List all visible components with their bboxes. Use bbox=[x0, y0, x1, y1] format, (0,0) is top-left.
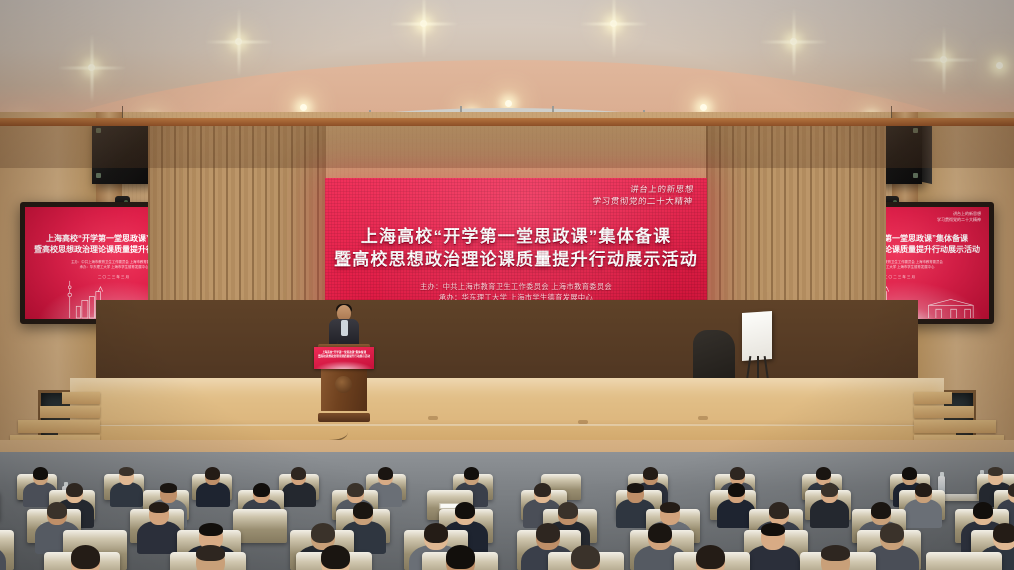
ceiling-spotlight bbox=[790, 38, 797, 45]
audience-member-hair bbox=[321, 545, 350, 569]
ceiling-spotlight bbox=[505, 100, 512, 107]
audience-member-hair bbox=[33, 467, 48, 480]
audience-member-hair bbox=[71, 545, 100, 569]
lectern-banner: 上海高校“开学第一堂思政课”集体备课 暨高校思想政治理论课质量提升行动展示活动 bbox=[314, 347, 374, 369]
audience-member-body bbox=[810, 499, 848, 528]
audience-member-body bbox=[904, 499, 942, 528]
flipchart-easel bbox=[742, 312, 774, 386]
auditorium-photo: 讲台上的新思想 学习贯彻党的二十大精神 上海高校“开学第一堂思政课”集体备课 暨… bbox=[0, 0, 1014, 570]
audience-member-hair bbox=[643, 467, 658, 480]
audience-member-hair bbox=[160, 483, 177, 493]
audience-member-body bbox=[282, 482, 316, 508]
audience-member-hair bbox=[571, 545, 600, 569]
ceiling-spotlight bbox=[235, 38, 242, 45]
audience-member-hair bbox=[291, 467, 306, 480]
audience-member-hair bbox=[973, 502, 993, 519]
audience-member-hair bbox=[536, 523, 560, 543]
audience-member-hair bbox=[769, 502, 789, 519]
audience-member-hair bbox=[66, 483, 83, 497]
audience-member-hair bbox=[816, 467, 831, 480]
audience-member-hair bbox=[464, 467, 479, 480]
audience-member-hair bbox=[761, 523, 785, 536]
flipchart-board bbox=[742, 311, 772, 361]
audience-member-hair bbox=[627, 483, 644, 493]
audience-member-hair bbox=[915, 483, 932, 497]
audience-member-hair bbox=[253, 483, 270, 497]
audience-member-hair bbox=[424, 523, 448, 543]
audience-member-hair bbox=[728, 483, 745, 497]
audience-member-hair bbox=[660, 502, 680, 513]
audience-member-body bbox=[110, 482, 144, 508]
audience-member-body bbox=[137, 521, 182, 554]
lectern: 上海高校“开学第一堂思政课”集体备课 暨高校思想政治理论课质量提升行动展示活动 bbox=[318, 344, 370, 422]
audience-member-hair bbox=[902, 467, 917, 480]
audience-member-hair bbox=[993, 523, 1014, 543]
audience-member-hair bbox=[47, 502, 67, 519]
auditorium-seat bbox=[926, 552, 1002, 570]
audience-member-hair bbox=[558, 502, 578, 519]
ceiling-spotlight bbox=[996, 62, 1003, 69]
audience-member-hair bbox=[821, 545, 850, 561]
ceiling-spotlight bbox=[610, 20, 617, 27]
audience-member-hair bbox=[648, 523, 672, 543]
audience-member-hair bbox=[1008, 483, 1014, 497]
audience-member-hair bbox=[730, 467, 745, 480]
audience-member-hair bbox=[871, 502, 891, 519]
audience-member-hair bbox=[119, 467, 134, 476]
audience-member-hair bbox=[347, 483, 364, 497]
audience-member-hair bbox=[311, 523, 335, 543]
wall-trim-band bbox=[0, 118, 1014, 126]
audience-member-body bbox=[196, 482, 230, 508]
audience-member-hair bbox=[205, 467, 220, 480]
side-right-calligraphy-2: 学习贯彻党的二十大精神 bbox=[937, 217, 981, 223]
audience-member-hair bbox=[988, 467, 1003, 476]
audience-member-hair bbox=[353, 502, 373, 519]
audience-member-hair bbox=[199, 523, 223, 536]
lectern-emblem-icon bbox=[335, 376, 352, 393]
audience-member-hair bbox=[196, 545, 225, 561]
auditorium-seat bbox=[233, 509, 287, 543]
ceiling-spotlight bbox=[88, 64, 95, 71]
lectern-banner-line-2: 暨高校思想政治理论课质量提升行动展示活动 bbox=[314, 355, 374, 359]
ceiling-spotlight bbox=[420, 20, 427, 27]
audience-member-hair bbox=[534, 483, 551, 497]
audience-member-hair bbox=[880, 523, 904, 543]
ceiling-spotlight bbox=[940, 56, 947, 63]
audience-member-hair bbox=[821, 483, 838, 497]
audience-member-hair bbox=[455, 502, 475, 519]
audience-member-hair bbox=[378, 467, 393, 480]
audience-member-hair bbox=[149, 502, 169, 513]
audience-member-hair bbox=[696, 545, 725, 569]
floor-cable bbox=[300, 418, 348, 442]
audience-member-hair bbox=[446, 545, 475, 569]
